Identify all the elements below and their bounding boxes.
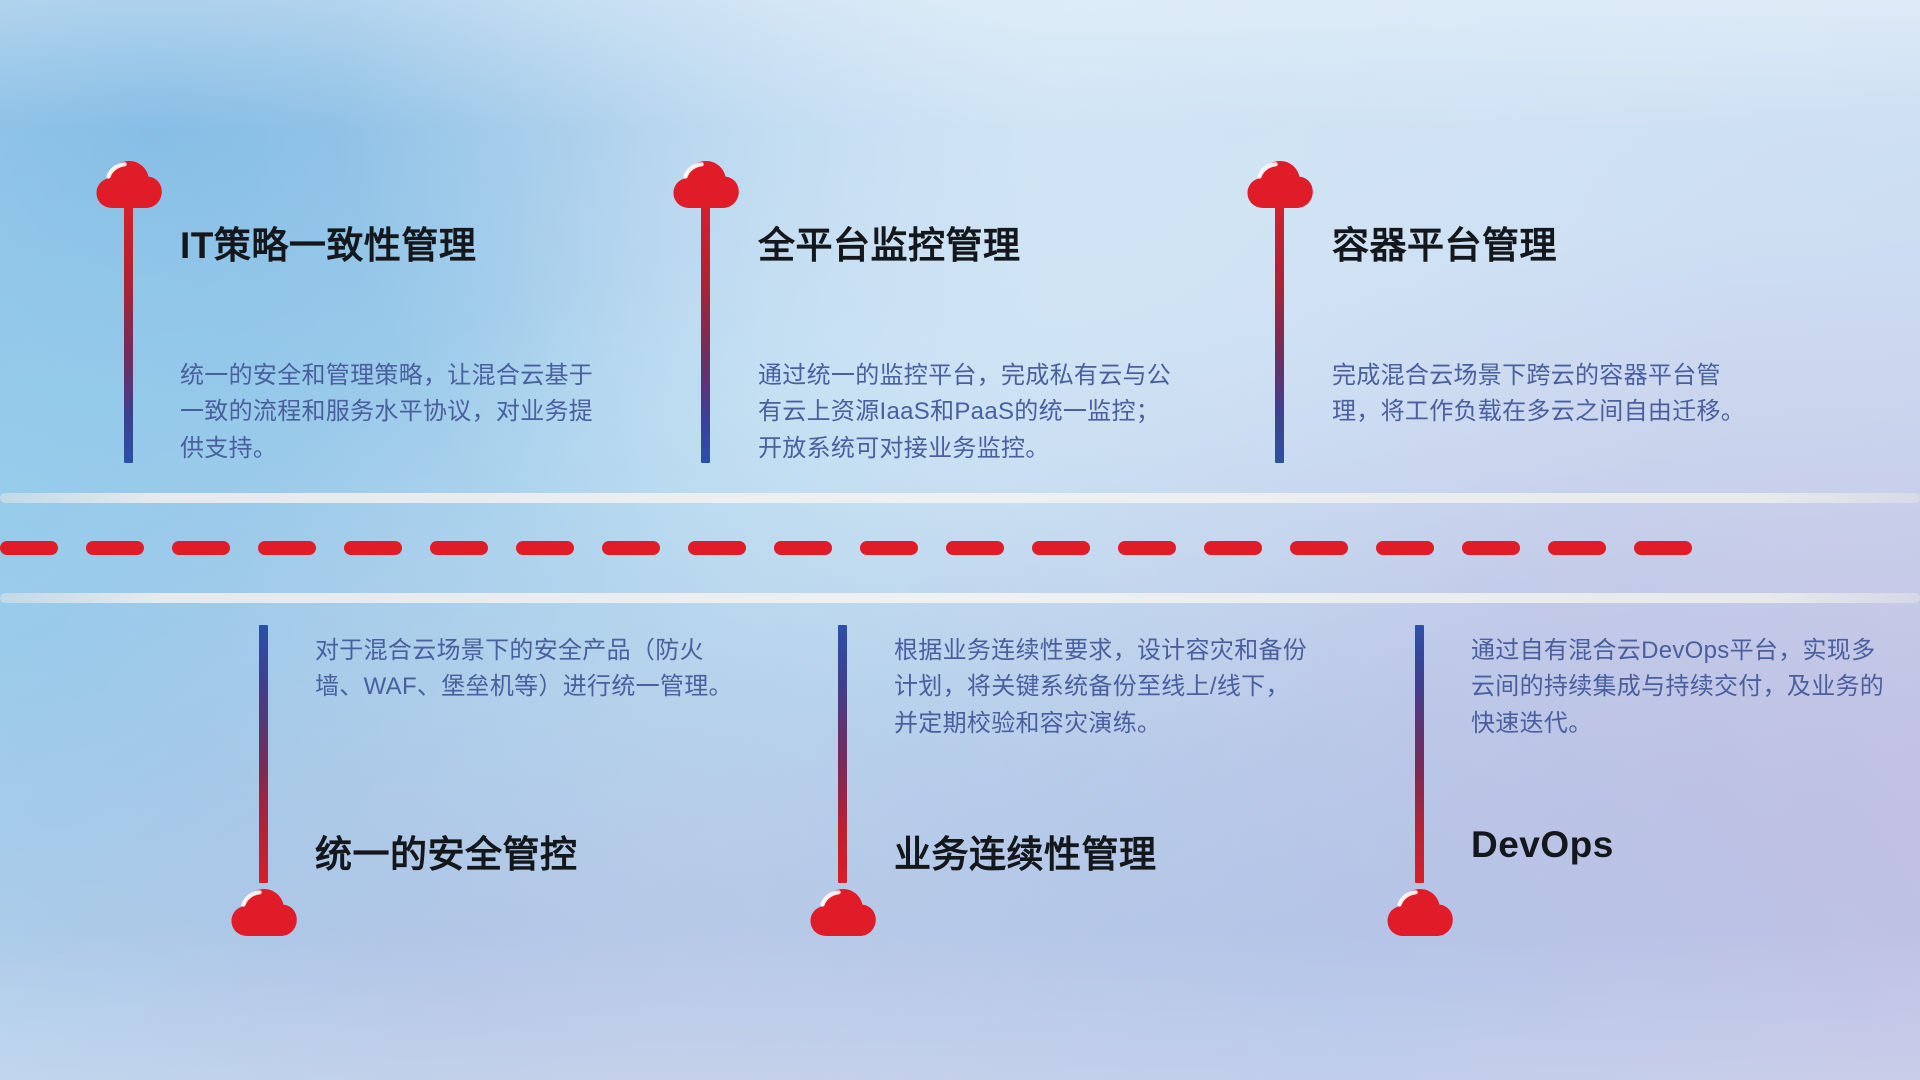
road-dash-segment bbox=[688, 541, 746, 555]
road-dash-segment bbox=[516, 541, 574, 555]
top-card-title-1: IT策略一致性管理 bbox=[180, 215, 476, 269]
bottom-card-title-1: 统一的安全管控 bbox=[315, 824, 578, 878]
road-dash-segment bbox=[860, 541, 918, 555]
top-card-description-1: 统一的安全和管理策略，让混合云基于一致的流程和服务水平协议，对业务提供支持。 bbox=[180, 358, 600, 467]
road-dash-segment bbox=[946, 541, 1004, 555]
road-dash-segment bbox=[430, 541, 488, 555]
cloud-icon bbox=[672, 160, 740, 210]
road-dash-segment bbox=[0, 541, 58, 555]
marker-stem bbox=[259, 625, 268, 883]
marker-stem bbox=[124, 205, 133, 463]
road-dash-segment bbox=[1548, 541, 1606, 555]
cloud-icon bbox=[95, 160, 163, 210]
road-dash-segment bbox=[1032, 541, 1090, 555]
bottom-card-description-1: 对于混合云场景下的安全产品（防火墙、WAF、堡垒机等）进行统一管理。 bbox=[315, 633, 735, 706]
road-dash-segment bbox=[344, 541, 402, 555]
infographic-canvas: IT策略一致性管理 统一的安全和管理策略，让混合云基于一致的流程和服务水平协议，… bbox=[0, 0, 1920, 1080]
cloud-icon bbox=[1246, 160, 1314, 210]
road-dash-segment bbox=[1290, 541, 1348, 555]
road-dash-segment bbox=[1204, 541, 1262, 555]
marker-stem bbox=[701, 205, 710, 463]
bottom-card-description-3: 通过自有混合云DevOps平台，实现多云间的持续集成与持续交付，及业务的快速迭代… bbox=[1471, 633, 1891, 742]
road-edge-line-top bbox=[0, 493, 1920, 503]
marker-stem bbox=[1415, 625, 1424, 883]
cloud-icon bbox=[809, 888, 877, 938]
top-card-description-2: 通过统一的监控平台，完成私有云与公有云上资源IaaS和PaaS的统一监控；开放系… bbox=[758, 358, 1178, 467]
road-center-dashed-line bbox=[0, 541, 1920, 555]
road-dash-segment bbox=[86, 541, 144, 555]
bottom-card-title-2: 业务连续性管理 bbox=[894, 824, 1157, 878]
road-dash-segment bbox=[1462, 541, 1520, 555]
bottom-card-title-3: DevOps bbox=[1471, 824, 1614, 866]
marker-stem bbox=[1275, 205, 1284, 463]
road-dash-segment bbox=[1118, 541, 1176, 555]
road-dash-segment bbox=[258, 541, 316, 555]
road-dash-segment bbox=[602, 541, 660, 555]
bottom-card-description-2: 根据业务连续性要求，设计容灾和备份计划，将关键系统备份至线上/线下，并定期校验和… bbox=[894, 633, 1314, 742]
road-dash-segment bbox=[1376, 541, 1434, 555]
road-dash-segment bbox=[1634, 541, 1692, 555]
road-dash-segment bbox=[774, 541, 832, 555]
cloud-icon bbox=[1386, 888, 1454, 938]
top-card-title-2: 全平台监控管理 bbox=[758, 215, 1021, 269]
cloud-icon bbox=[230, 888, 298, 938]
road-dash-segment bbox=[172, 541, 230, 555]
road-edge-line-bottom bbox=[0, 593, 1920, 603]
top-card-description-3: 完成混合云场景下跨云的容器平台管理，将工作负载在多云之间自由迁移。 bbox=[1332, 358, 1752, 431]
marker-stem bbox=[838, 625, 847, 883]
top-card-title-3: 容器平台管理 bbox=[1332, 215, 1557, 269]
